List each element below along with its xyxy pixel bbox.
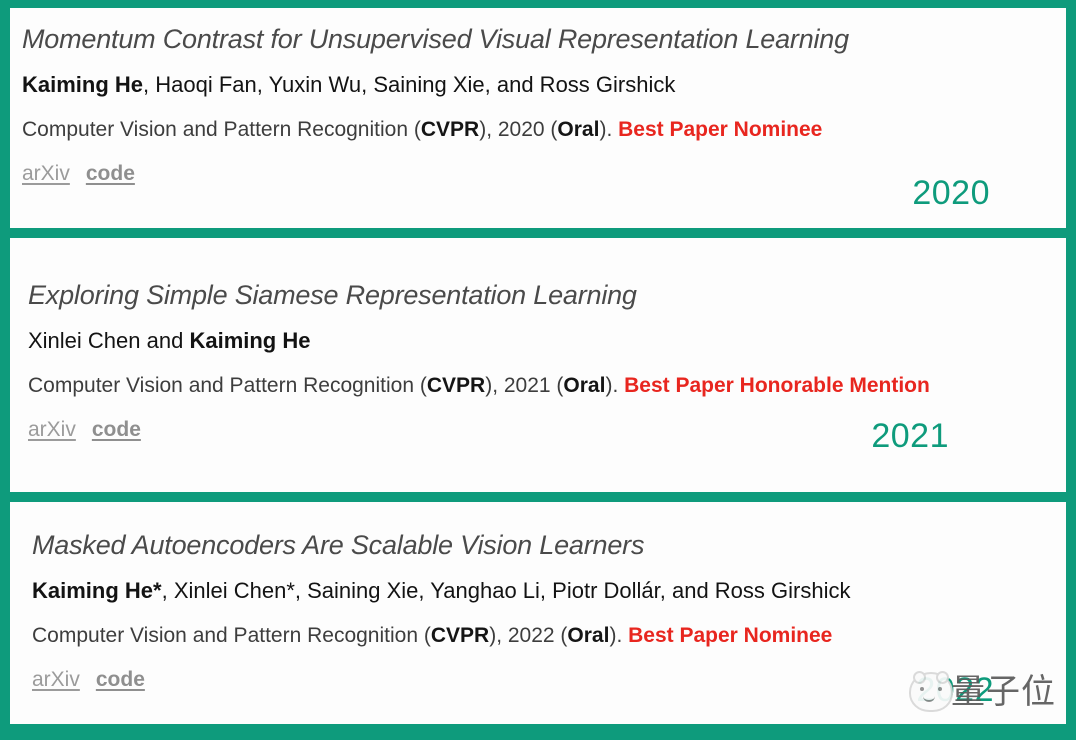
venue-name: Computer Vision and Pattern Recognition … bbox=[32, 624, 431, 647]
venue-name: Computer Vision and Pattern Recognition … bbox=[28, 374, 427, 397]
arxiv-link[interactable]: arXiv bbox=[28, 418, 76, 441]
venue-acronym: CVPR bbox=[427, 374, 485, 397]
publication-authors: Xinlei Chen and Kaiming He bbox=[28, 326, 1052, 356]
venue-suffix: ). bbox=[599, 118, 618, 141]
venue-presentation-type: Oral bbox=[557, 118, 599, 141]
publication-links: arXivcode bbox=[32, 666, 1052, 694]
venue-suffix: ). bbox=[609, 624, 628, 647]
publication-year: 2020 bbox=[912, 174, 990, 212]
venue-name: Computer Vision and Pattern Recognition … bbox=[22, 118, 421, 141]
highlighted-author: Kaiming He bbox=[22, 72, 143, 97]
author-list: , Haoqi Fan, Yuxin Wu, Saining Xie, and … bbox=[143, 72, 675, 97]
publication-card[interactable]: Exploring Simple Siamese Representation … bbox=[10, 238, 1066, 492]
venue-acronym: CVPR bbox=[421, 118, 479, 141]
venue-presentation-type: Oral bbox=[567, 624, 609, 647]
arxiv-link[interactable]: arXiv bbox=[32, 668, 80, 691]
publication-title: Masked Autoencoders Are Scalable Vision … bbox=[32, 528, 1052, 562]
publication-title: Momentum Contrast for Unsupervised Visua… bbox=[22, 22, 1052, 56]
award-badge: Best Paper Nominee bbox=[618, 118, 822, 141]
card-separator bbox=[10, 228, 1066, 238]
award-badge: Best Paper Honorable Mention bbox=[624, 374, 930, 397]
venue-year: ), 2022 ( bbox=[489, 624, 567, 647]
publication-links: arXivcode bbox=[22, 160, 1052, 188]
publication-authors: Kaiming He, Haoqi Fan, Yuxin Wu, Saining… bbox=[22, 70, 1052, 100]
publication-cards: Momentum Contrast for Unsupervised Visua… bbox=[10, 8, 1066, 732]
publication-list-page: Momentum Contrast for Unsupervised Visua… bbox=[0, 0, 1076, 740]
venue-year: ), 2020 ( bbox=[479, 118, 557, 141]
card-separator bbox=[10, 492, 1066, 502]
venue-acronym: CVPR bbox=[431, 624, 489, 647]
publication-venue: Computer Vision and Pattern Recognition … bbox=[28, 371, 1052, 400]
highlighted-author: Kaiming He* bbox=[32, 578, 162, 603]
venue-year: ), 2021 ( bbox=[485, 374, 563, 397]
publication-venue: Computer Vision and Pattern Recognition … bbox=[32, 621, 1052, 650]
publication-card[interactable]: Masked Autoencoders Are Scalable Vision … bbox=[10, 502, 1066, 724]
author-list: , Xinlei Chen*, Saining Xie, Yanghao Li,… bbox=[162, 578, 851, 603]
publication-card[interactable]: Momentum Contrast for Unsupervised Visua… bbox=[10, 8, 1066, 228]
venue-presentation-type: Oral bbox=[563, 374, 605, 397]
award-badge: Best Paper Nominee bbox=[628, 624, 832, 647]
author-list: Xinlei Chen and bbox=[28, 328, 189, 353]
publication-year: 2022 bbox=[916, 671, 994, 709]
publication-year: 2021 bbox=[871, 417, 949, 455]
code-link[interactable]: code bbox=[96, 668, 145, 691]
publication-venue: Computer Vision and Pattern Recognition … bbox=[22, 115, 1052, 144]
publication-authors: Kaiming He*, Xinlei Chen*, Saining Xie, … bbox=[32, 576, 1052, 606]
venue-suffix: ). bbox=[605, 374, 624, 397]
code-link[interactable]: code bbox=[86, 162, 135, 185]
code-link[interactable]: code bbox=[92, 418, 141, 441]
arxiv-link[interactable]: arXiv bbox=[22, 162, 70, 185]
highlighted-author: Kaiming He bbox=[189, 328, 310, 353]
publication-title: Exploring Simple Siamese Representation … bbox=[28, 278, 1052, 312]
